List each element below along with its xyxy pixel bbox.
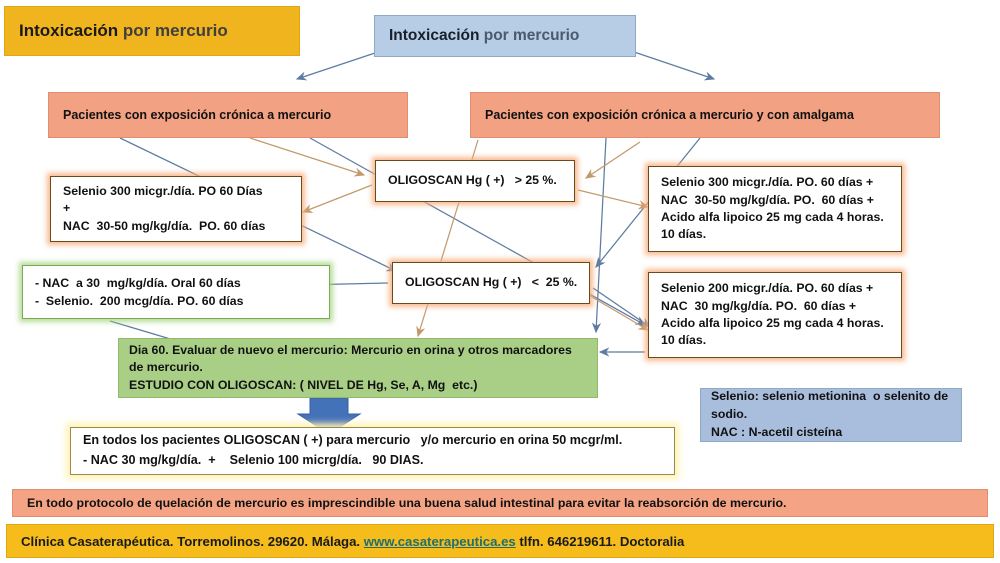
oligoscan-high-decision-box: OLIGOSCAN Hg ( +) > 25 %. (375, 160, 575, 202)
treatment-right-low-line3: Acido alfa lipoico 25 mg cada 4 horas. (661, 315, 889, 332)
clinic-name-text: Clínica Casaterapéutica. Torremolinos. 2… (21, 534, 364, 549)
oligoscan-high-label: OLIGOSCAN Hg ( +) > 25 %. (388, 172, 562, 189)
treatment-right-high-line3: Acido alfa lipoico 25 mg cada 4 horas. (661, 209, 889, 226)
gold-title-strong: Intoxicación (19, 21, 118, 40)
treatment-left-high-line2: + (63, 200, 289, 217)
gut-health-warning-text: En todo protocolo de quelación de mercur… (27, 496, 786, 510)
evaluate-line3: ESTUDIO CON OLIGOSCAN: ( NIVEL DE Hg, Se… (129, 377, 587, 394)
treatment-left-low-line2: - Selenio. 200 mcg/día. PO. 60 días (35, 292, 317, 310)
blue-title-rest: por mercurio (479, 27, 579, 44)
evaluate-line1: Dia 60. Evaluar de nuevo el mercurio: Me… (129, 342, 587, 359)
treatment-right-high-line1: Selenio 300 micgr./día. PO. 60 días + (661, 174, 889, 191)
treatment-right-low-line1: Selenio 200 micgr./día. PO. 60 días + (661, 280, 889, 297)
treatment-right-high-line2: NAC 30-50 mg/kg/día. PO. 60 días + (661, 192, 889, 209)
patients-chronic-exposure-box: Pacientes con exposición crónica a mercu… (48, 92, 408, 138)
clinic-phone-text: tlfn. 646219611. Doctoralia (516, 534, 685, 549)
treatment-left-high-line3: NAC 30-50 mg/kg/día. PO. 60 días (63, 218, 289, 235)
gut-health-warning-banner: En todo protocolo de quelación de mercur… (12, 489, 988, 517)
evaluate-line2: de mercurio. (129, 359, 587, 376)
treatment-right-low-box: Selenio 200 micgr./día. PO. 60 días + NA… (648, 272, 902, 358)
legend-line3: NAC : N-acetil cisteína (711, 424, 951, 442)
treatment-left-low-box: - NAC a 30 mg/kg/día. Oral 60 días - Sel… (22, 265, 330, 319)
treatment-right-low-line2: NAC 30 mg/kg/día. PO. 60 días + (661, 298, 889, 315)
treatment-right-high-box: Selenio 300 micgr./día. PO. 60 días + NA… (648, 166, 902, 252)
mercury-protocol-diagram: Intoxicación por mercurio Intoxicación p… (0, 0, 1000, 563)
final-protocol-box: En todos los pacientes OLIGOSCAN ( +) pa… (70, 427, 675, 475)
blue-title-banner: Intoxicación por mercurio (374, 15, 636, 57)
treatment-left-high-line1: Selenio 300 micgr./día. PO 60 Días (63, 183, 289, 200)
patients-right-label: Pacientes con exposición crónica a mercu… (485, 108, 854, 122)
evaluate-day60-box: Dia 60. Evaluar de nuevo el mercurio: Me… (118, 338, 598, 398)
treatment-right-high-line4: 10 días. (661, 226, 889, 243)
patients-left-label: Pacientes con exposición crónica a mercu… (63, 108, 331, 122)
blue-title-strong: Intoxicación (389, 27, 479, 44)
oligoscan-low-label: OLIGOSCAN Hg ( +) < 25 %. (405, 274, 577, 291)
clinic-footer-banner: Clínica Casaterapéutica. Torremolinos. 2… (6, 524, 994, 558)
final-protocol-line2: - NAC 30 mg/kg/día. + Selenio 100 micrg/… (83, 451, 662, 471)
treatment-left-low-line1: - NAC a 30 mg/kg/día. Oral 60 días (35, 274, 317, 292)
treatment-left-high-box: Selenio 300 micgr./día. PO 60 Días + NAC… (50, 176, 302, 242)
oligoscan-low-decision-box: OLIGOSCAN Hg ( +) < 25 %. (392, 262, 590, 304)
clinic-website-link[interactable]: www.casaterapeutica.es (364, 534, 516, 549)
gold-title-rest: por mercurio (118, 21, 228, 40)
legend-line1: Selenio: selenio metionina o selenito de (711, 388, 951, 406)
final-protocol-line1: En todos los pacientes OLIGOSCAN ( +) pa… (83, 431, 662, 451)
gold-title-banner: Intoxicación por mercurio (4, 6, 300, 56)
legend-line2: sodio. (711, 406, 951, 424)
legend-box: Selenio: selenio metionina o selenito de… (700, 388, 962, 442)
patients-chronic-exposure-amalgam-box: Pacientes con exposición crónica a mercu… (470, 92, 940, 138)
treatment-right-low-line4: 10 días. (661, 332, 889, 349)
